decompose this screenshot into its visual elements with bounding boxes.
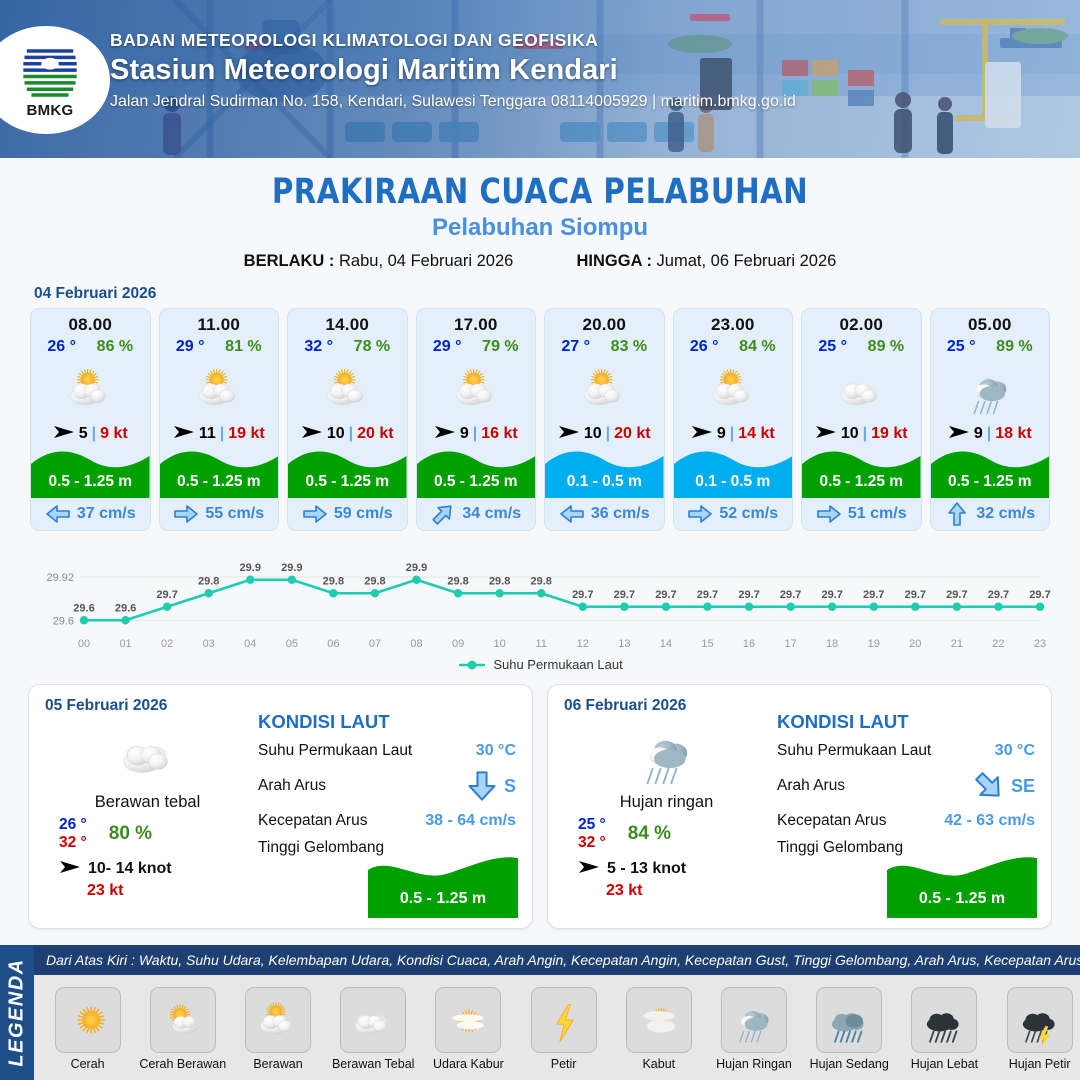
- wind-row: 10 | 20 kt: [545, 424, 664, 444]
- current-speed: 34 cm/s: [462, 505, 521, 523]
- daily-summary-card: 05 Februari 2026: [28, 684, 533, 929]
- current-row: 59 cm/s: [288, 498, 407, 530]
- svg-text:29.7: 29.7: [614, 589, 635, 601]
- forecast-card: 14.00 32 ° 78 %: [287, 308, 408, 531]
- sst-label: Suhu Permukaan Laut: [777, 742, 931, 760]
- weather-icon-slot: [31, 358, 150, 420]
- forecast-time: 08.00: [31, 315, 150, 335]
- legenda-item: Hujan Sedang: [803, 987, 895, 1071]
- current-speed: 59 cm/s: [334, 505, 393, 523]
- legenda-item: Hujan Petir: [994, 987, 1080, 1071]
- valid-until-value: Jumat, 06 Februari 2026: [657, 252, 837, 270]
- svg-text:04: 04: [244, 638, 256, 650]
- legenda-icon-box: [245, 987, 311, 1053]
- temp-humidity-row: 29 ° 79 %: [417, 338, 536, 356]
- station-address: Jalan Jendral Sudirman No. 158, Kendari,…: [110, 93, 796, 111]
- current-speed-row: Kecepatan Arus 42 - 63 cm/s: [777, 812, 1035, 830]
- sst-value: 30 °C: [995, 742, 1035, 760]
- legenda-body: Dari Atas Kiri : Waktu, Suhu Udara, Kele…: [34, 945, 1080, 1080]
- summary-wave-value: 0.5 - 1.25 m: [887, 890, 1037, 908]
- current-speed: 51 cm/s: [848, 505, 907, 523]
- summary-left: 05 Februari 2026: [45, 697, 250, 914]
- partly-cloudy-icon: [252, 994, 304, 1046]
- legenda-icon-box: [150, 987, 216, 1053]
- svg-text:29.8: 29.8: [489, 575, 510, 587]
- wave-height-band: 0.5 - 1.25 m: [160, 446, 279, 498]
- wave-height-band: 0.5 - 1.25 m: [802, 446, 921, 498]
- legenda-item: Berawan Tebal: [327, 987, 419, 1071]
- temp-humidity-row: 25 ° 89 %: [931, 338, 1050, 356]
- cloudy-icon: [347, 994, 399, 1046]
- summary-sea-conditions: KONDISI LAUT Suhu Permukaan Laut 30 °C A…: [250, 697, 516, 914]
- wind-direction-arrow: [815, 424, 837, 444]
- forecast-time: 17.00: [417, 315, 536, 335]
- thunderstorm-icon: [1014, 994, 1066, 1046]
- wind-direction-icon: [691, 424, 713, 440]
- current-direction-row: Arah Arus SE: [777, 769, 1035, 803]
- partly-cloudy-icon: [575, 360, 633, 418]
- wind-gust: 14 kt: [738, 425, 774, 443]
- wind-direction-arrow: [434, 424, 456, 444]
- legenda-item-label: Hujan Ringan: [716, 1057, 792, 1071]
- summary-temp-min: 25 °: [578, 816, 606, 834]
- legenda-section: LEGENDA Dari Atas Kiri : Waktu, Suhu Uda…: [0, 945, 1080, 1080]
- wave-height-band: 0.5 - 1.25 m: [288, 446, 407, 498]
- summary-wave-band: 0.5 - 1.25 m: [887, 852, 1037, 918]
- svg-text:29.92: 29.92: [46, 572, 74, 584]
- current-direction-left-icon: [559, 504, 585, 524]
- summary-sea-conditions: KONDISI LAUT Suhu Permukaan Laut 30 °C A…: [769, 697, 1035, 914]
- summary-humidity: 84 %: [628, 823, 671, 845]
- summary-temp-max: 32 °: [59, 834, 87, 852]
- current-direction-value: SE: [1011, 776, 1035, 797]
- legenda-item-label: Cerah: [71, 1057, 105, 1071]
- svg-text:15: 15: [701, 638, 713, 650]
- svg-text:29.9: 29.9: [281, 562, 302, 574]
- wind-direction-icon: [434, 424, 456, 440]
- legenda-item-label: Udara Kabur: [433, 1057, 504, 1071]
- forecast-card: 23.00 26 ° 84 %: [673, 308, 794, 531]
- wind-gust: 19 kt: [228, 425, 264, 443]
- current-speed-row: Kecepatan Arus 38 - 64 cm/s: [258, 812, 516, 830]
- legenda-note: Dari Atas Kiri : Waktu, Suhu Udara, Kele…: [34, 945, 1080, 975]
- current-speed: 52 cm/s: [719, 505, 778, 523]
- sst-chart: 29.9229.629.60029.60129.70229.80329.9042…: [28, 543, 1052, 655]
- page-header: BMKG BADAN METEOROLOGI KLIMATOLOGI DAN G…: [0, 0, 1080, 158]
- bmkg-logo-text: BMKG: [26, 102, 73, 119]
- current-speed: 32 cm/s: [976, 505, 1035, 523]
- sunny-icon: [62, 994, 114, 1046]
- forecast-card: 05.00 25 ° 89 %: [930, 308, 1051, 531]
- wind-speed: 9: [974, 425, 983, 443]
- thunder-icon: [538, 994, 590, 1046]
- svg-text:18: 18: [826, 638, 838, 650]
- legenda-item-label: Cerah Berawan: [139, 1057, 226, 1071]
- wind-gust: 9 kt: [100, 425, 128, 443]
- current-direction-downright-icon: [966, 763, 1011, 808]
- summary-temp-max: 32 °: [578, 834, 606, 852]
- current-speed-label: Kecepatan Arus: [258, 812, 367, 830]
- wind-direction-icon: [53, 424, 75, 440]
- legenda-item-label: Berawan: [253, 1057, 302, 1071]
- current-direction-right-icon: [816, 504, 842, 524]
- svg-text:29.7: 29.7: [946, 589, 967, 601]
- forecast-card: 11.00 29 ° 81 %: [159, 308, 280, 531]
- wind-row: 11 | 19 kt: [160, 424, 279, 444]
- light-rain-icon: [961, 360, 1019, 418]
- svg-text:29.7: 29.7: [863, 589, 884, 601]
- wind-direction-arrow: [173, 424, 195, 444]
- chart-legend: Suhu Permukaan Laut: [0, 657, 1080, 672]
- wind-separator: |: [220, 425, 224, 443]
- wind-direction-icon: [59, 859, 81, 875]
- legenda-icon-box: [816, 987, 882, 1053]
- current-speed-label: Kecepatan Arus: [777, 812, 886, 830]
- sea-conditions-title: KONDISI LAUT: [258, 711, 516, 733]
- svg-text:05: 05: [286, 638, 298, 650]
- temp-humidity-row: 27 ° 83 %: [545, 338, 664, 356]
- wind-direction-arrow: [301, 424, 323, 444]
- legenda-item: Hujan Lebat: [898, 987, 990, 1071]
- wind-direction-arrow: [59, 859, 81, 879]
- wind-direction-icon: [948, 424, 970, 440]
- wind-separator: |: [349, 425, 353, 443]
- humidity: 81 %: [225, 338, 261, 356]
- current-direction-left-icon: [45, 504, 71, 524]
- air-temperature: 26 °: [47, 338, 76, 356]
- weather-icon-slot: [674, 358, 793, 420]
- legenda-item: Berawan: [232, 987, 324, 1071]
- svg-text:29.9: 29.9: [240, 562, 261, 574]
- summary-weather-icon-slot: [45, 717, 250, 789]
- daily-summary-list: 05 Februari 2026: [0, 672, 1080, 929]
- wind-direction-icon: [815, 424, 837, 440]
- sst-label: Suhu Permukaan Laut: [258, 742, 412, 760]
- wind-gust: 18 kt: [995, 425, 1031, 443]
- sst-value: 30 °C: [476, 742, 516, 760]
- summary-weather-icon-slot: [564, 717, 769, 789]
- humidity: 86 %: [97, 338, 133, 356]
- current-row: 51 cm/s: [802, 498, 921, 530]
- legenda-item-label: Hujan Lebat: [911, 1057, 978, 1071]
- svg-text:16: 16: [743, 638, 755, 650]
- partly-cloudy-icon: [447, 360, 505, 418]
- summary-date: 06 Februari 2026: [564, 697, 769, 715]
- page-title: PRAKIRAAN CUACA PELABUHAN: [38, 172, 1042, 212]
- legenda-item: Petir: [518, 987, 610, 1071]
- svg-text:17: 17: [784, 638, 796, 650]
- summary-temp-humidity: 25 ° 32 ° 84 %: [564, 816, 769, 852]
- legenda-icon-box: [340, 987, 406, 1053]
- wave-height-value: 0.5 - 1.25 m: [802, 473, 921, 491]
- summary-left: 06 Februari 2026: [564, 697, 769, 914]
- wave-height-band: 0.5 - 1.25 m: [931, 446, 1050, 498]
- forecast-card: 17.00 29 ° 79 %: [416, 308, 537, 531]
- wind-direction-icon: [578, 859, 600, 875]
- svg-text:29.7: 29.7: [697, 589, 718, 601]
- air-temperature: 29 °: [433, 338, 462, 356]
- wave-height-value: 0.1 - 0.5 m: [545, 473, 664, 491]
- svg-text:29.9: 29.9: [406, 562, 427, 574]
- svg-text:13: 13: [618, 638, 630, 650]
- svg-text:29.7: 29.7: [821, 589, 842, 601]
- current-direction-label: Arah Arus: [258, 777, 326, 795]
- current-row: 34 cm/s: [417, 498, 536, 530]
- sst-row: Suhu Permukaan Laut 30 °C: [777, 742, 1035, 760]
- forecast-time: 11.00: [160, 315, 279, 335]
- legenda-item-label: Petir: [551, 1057, 577, 1071]
- partly-cloudy-icon: [61, 360, 119, 418]
- summary-wave-value: 0.5 - 1.25 m: [368, 890, 518, 908]
- legenda-item: Kabut: [613, 987, 705, 1071]
- wind-speed: 11: [199, 425, 216, 443]
- svg-text:02: 02: [161, 638, 173, 650]
- legenda-item: Udara Kabur: [422, 987, 514, 1071]
- wind-row: 10 | 20 kt: [288, 424, 407, 444]
- wind-direction-arrow: [948, 424, 970, 444]
- legenda-item-label: Hujan Sedang: [810, 1057, 889, 1071]
- summary-condition: Hujan ringan: [564, 793, 769, 812]
- current-direction-down-icon: [465, 771, 499, 801]
- bmkg-emblem-icon: [21, 42, 79, 104]
- legenda-icon-box: [435, 987, 501, 1053]
- svg-text:29.6: 29.6: [115, 602, 136, 614]
- svg-text:29.7: 29.7: [780, 589, 801, 601]
- wave-height-value: 0.5 - 1.25 m: [31, 473, 150, 491]
- svg-text:01: 01: [119, 638, 131, 650]
- legenda-icon-box: [55, 987, 121, 1053]
- daily-summary-card: 06 Februari 2026: [547, 684, 1052, 929]
- current-direction-value: S: [504, 776, 516, 797]
- summary-wind-gust: 23 kt: [45, 882, 250, 900]
- legenda-side-label: LEGENDA: [6, 958, 29, 1066]
- current-speed: 37 cm/s: [77, 505, 136, 523]
- chart-legend-label: Suhu Permukaan Laut: [493, 657, 622, 672]
- summary-humidity: 80 %: [109, 823, 152, 845]
- wave-height-band: 0.5 - 1.25 m: [31, 446, 150, 498]
- wind-separator: |: [987, 425, 991, 443]
- summary-wind-row: 5 - 13 knot: [564, 859, 769, 879]
- wind-gust: 20 kt: [614, 425, 650, 443]
- current-row: 55 cm/s: [160, 498, 279, 530]
- wave-height-band: 0.5 - 1.25 m: [417, 446, 536, 498]
- valid-from-label: BERLAKU :: [244, 252, 335, 270]
- weather-icon-slot: [288, 358, 407, 420]
- humidity: 84 %: [739, 338, 775, 356]
- summary-wind-gust: 23 kt: [564, 882, 769, 900]
- moderate-rain-icon: [823, 994, 875, 1046]
- valid-from-value: Rabu, 04 Februari 2026: [339, 252, 513, 270]
- temp-humidity-row: 25 ° 89 %: [802, 338, 921, 356]
- wind-gust: 19 kt: [871, 425, 907, 443]
- header-text-block: BADAN METEOROLOGI KLIMATOLOGI DAN GEOFIS…: [110, 30, 796, 111]
- wind-speed: 10: [584, 425, 602, 443]
- current-row: 52 cm/s: [674, 498, 793, 530]
- legenda-icon-box: [721, 987, 787, 1053]
- legenda-icon-box: [531, 987, 597, 1053]
- svg-text:03: 03: [203, 638, 215, 650]
- port-name: Pelabuhan Siompu: [0, 214, 1080, 242]
- air-temperature: 25 °: [818, 338, 847, 356]
- wave-height-value: 0.5 - 1.25 m: [160, 473, 279, 491]
- summary-wind-speed: 10- 14 knot: [88, 860, 172, 878]
- temp-humidity-row: 26 ° 86 %: [31, 338, 150, 356]
- wind-separator: |: [473, 425, 477, 443]
- svg-text:00: 00: [78, 638, 90, 650]
- svg-text:29.7: 29.7: [905, 589, 926, 601]
- legenda-icon-box: [626, 987, 692, 1053]
- svg-text:06: 06: [327, 638, 339, 650]
- wind-gust: 20 kt: [357, 425, 393, 443]
- summary-condition: Berawan tebal: [45, 793, 250, 812]
- summary-date: 05 Februari 2026: [45, 697, 250, 715]
- svg-text:29.8: 29.8: [198, 575, 219, 587]
- weather-icon-slot: [802, 358, 921, 420]
- legenda-item: Cerah Berawan: [137, 987, 229, 1071]
- wave-height-value: 0.5 - 1.25 m: [417, 473, 536, 491]
- wind-separator: |: [863, 425, 867, 443]
- wind-gust: 16 kt: [481, 425, 517, 443]
- validity-row: BERLAKU : Rabu, 04 Februari 2026 HINGGA …: [0, 252, 1080, 271]
- temp-humidity-row: 32 ° 78 %: [288, 338, 407, 356]
- weather-icon-slot: [545, 358, 664, 420]
- title-block: PRAKIRAAN CUACA PELABUHAN Pelabuhan Siom…: [0, 158, 1080, 271]
- summary-wind-speed: 5 - 13 knot: [607, 860, 686, 878]
- air-temperature: 25 °: [947, 338, 976, 356]
- svg-text:29.8: 29.8: [364, 575, 385, 587]
- wind-direction-arrow: [691, 424, 713, 444]
- forecast-time: 02.00: [802, 315, 921, 335]
- summary-temp-min: 26 °: [59, 816, 87, 834]
- wind-row: 10 | 19 kt: [802, 424, 921, 444]
- current-direction-up-icon: [947, 501, 967, 527]
- haze-icon: [442, 994, 494, 1046]
- wave-band-graphic: [887, 852, 1037, 918]
- wind-speed: 10: [841, 425, 859, 443]
- current-row: 32 cm/s: [931, 498, 1050, 530]
- wave-height-band: 0.1 - 0.5 m: [674, 446, 793, 498]
- legenda-item-label: Hujan Petir: [1009, 1057, 1071, 1071]
- wind-direction-icon: [558, 424, 580, 440]
- air-temperature: 27 °: [561, 338, 590, 356]
- legenda-item: Hujan Ringan: [708, 987, 800, 1071]
- wave-height-value: 0.1 - 0.5 m: [674, 473, 793, 491]
- svg-text:22: 22: [992, 638, 1004, 650]
- sst-chart-svg: 29.9229.629.60029.60129.70229.80329.9042…: [28, 543, 1052, 655]
- sunny-cloudy-icon: [157, 994, 209, 1046]
- svg-text:07: 07: [369, 638, 381, 650]
- legenda-item-label: Berawan Tebal: [332, 1057, 414, 1071]
- current-direction-label: Arah Arus: [777, 777, 845, 795]
- forecast-time: 05.00: [931, 315, 1050, 335]
- temp-humidity-row: 29 ° 81 %: [160, 338, 279, 356]
- chart-legend-marker-icon: [457, 659, 487, 671]
- current-row: 36 cm/s: [545, 498, 664, 530]
- weather-icon-slot: [160, 358, 279, 420]
- wave-height-band: 0.1 - 0.5 m: [545, 446, 664, 498]
- current-direction-right-icon: [687, 504, 713, 524]
- wave-band-graphic: [368, 852, 518, 918]
- wind-direction-arrow: [53, 424, 75, 444]
- cloudy-icon: [832, 360, 890, 418]
- light-rain-icon: [631, 717, 703, 789]
- heavy-rain-icon: [918, 994, 970, 1046]
- svg-text:14: 14: [660, 638, 672, 650]
- forecast-time: 23.00: [674, 315, 793, 335]
- svg-text:19: 19: [868, 638, 880, 650]
- wave-height-value: 0.5 - 1.25 m: [931, 473, 1050, 491]
- air-temperature: 32 °: [304, 338, 333, 356]
- wind-direction-arrow: [578, 859, 600, 879]
- wind-speed: 10: [327, 425, 345, 443]
- forecast-card: 02.00 25 ° 89 %: [801, 308, 922, 531]
- wave-height-value: 0.5 - 1.25 m: [288, 473, 407, 491]
- wind-separator: |: [730, 425, 734, 443]
- station-name: Stasiun Meteorologi Maritim Kendari: [110, 54, 796, 87]
- wind-direction-arrow: [558, 424, 580, 444]
- legenda-item-label: Kabut: [642, 1057, 675, 1071]
- svg-text:29.7: 29.7: [738, 589, 759, 601]
- valid-until-label: HINGGA :: [576, 252, 651, 270]
- wind-row: 9 | 18 kt: [931, 424, 1050, 444]
- wave-height-label: Tinggi Gelombang: [777, 839, 903, 857]
- svg-text:09: 09: [452, 638, 464, 650]
- summary-temp-humidity: 26 ° 32 ° 80 %: [45, 816, 250, 852]
- humidity: 78 %: [354, 338, 390, 356]
- svg-text:12: 12: [577, 638, 589, 650]
- cloudy-icon: [112, 717, 184, 789]
- wind-row: 5 | 9 kt: [31, 424, 150, 444]
- svg-text:29.7: 29.7: [156, 589, 177, 601]
- temp-humidity-row: 26 ° 84 %: [674, 338, 793, 356]
- legenda-icon-box: [1007, 987, 1073, 1053]
- current-row: 37 cm/s: [31, 498, 150, 530]
- weather-icon-slot: [931, 358, 1050, 420]
- svg-text:20: 20: [909, 638, 921, 650]
- current-speed: 36 cm/s: [591, 505, 650, 523]
- air-temperature: 29 °: [176, 338, 205, 356]
- wind-speed: 5: [79, 425, 88, 443]
- svg-text:23: 23: [1034, 638, 1046, 650]
- wind-speed: 9: [460, 425, 469, 443]
- air-temperature: 26 °: [690, 338, 719, 356]
- light-rain-icon: [728, 994, 780, 1046]
- partly-cloudy-icon: [318, 360, 376, 418]
- svg-text:11: 11: [536, 638, 547, 650]
- current-speed-value: 38 - 64 cm/s: [425, 812, 516, 830]
- agency-name: BADAN METEOROLOGI KLIMATOLOGI DAN GEOFIS…: [110, 30, 796, 51]
- legenda-item-list: Cerah: [34, 975, 1080, 1080]
- svg-text:29.8: 29.8: [323, 575, 344, 587]
- legenda-icon-box: [911, 987, 977, 1053]
- partly-cloudy-icon: [190, 360, 248, 418]
- svg-text:29.8: 29.8: [447, 575, 468, 587]
- forecast-time: 14.00: [288, 315, 407, 335]
- forecast-card-list: 08.00 26 ° 86 %: [0, 308, 1080, 531]
- svg-text:29.7: 29.7: [655, 589, 676, 601]
- current-direction-right-icon: [302, 504, 328, 524]
- legenda-side-tab: LEGENDA: [0, 945, 34, 1080]
- svg-text:08: 08: [410, 638, 422, 650]
- wind-speed: 9: [717, 425, 726, 443]
- wind-separator: |: [92, 425, 96, 443]
- svg-text:29.7: 29.7: [1029, 589, 1050, 601]
- current-direction-row: Arah Arus S: [258, 769, 516, 803]
- fog-icon: [633, 994, 685, 1046]
- forecast-card: 20.00 27 ° 83 %: [544, 308, 665, 531]
- wind-direction-icon: [301, 424, 323, 440]
- wind-direction-icon: [173, 424, 195, 440]
